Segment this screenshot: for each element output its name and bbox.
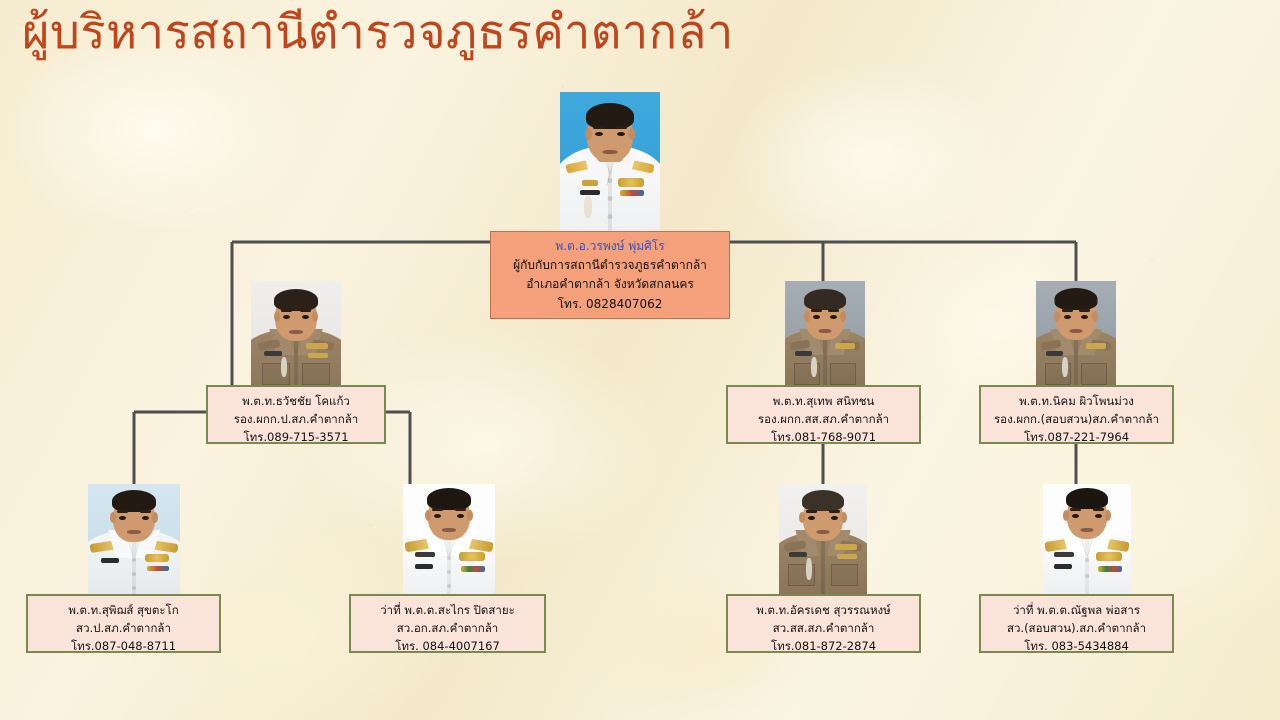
node-level3-1[interactable]: ว่าที่ พ.ต.ต.สะไกร ปิดสายะ สว.อก.สภ.คำตา… [349, 594, 546, 653]
node-name: พ.ต.ท.นิคม ผิวโพนม่วง [985, 393, 1168, 411]
node-name: พ.ต.ท.อัครเดช สุวรรณหงษ์ [732, 602, 915, 620]
photo-level3-1 [403, 484, 495, 594]
page-title: ผู้บริหารสถานีตำรวจภูธรคำตากล้า [22, 6, 734, 60]
photo-level3-3 [1043, 484, 1131, 594]
node-phone: โทร.081-768-9071 [732, 429, 915, 447]
node-level3-0[interactable]: พ.ต.ท.สุพิฌส์ สุขตะโก สว.ป.สภ.คำตากล้า โ… [26, 594, 221, 653]
node-role: สว.อก.สภ.คำตากล้า [355, 620, 540, 638]
photo-root [560, 92, 660, 232]
root-node[interactable]: พ.ต.อ.วรพงษ์ พุ่มศิโร ผู้กับกับการสถานีต… [490, 231, 730, 319]
node-level3-2[interactable]: พ.ต.ท.อัครเดช สุวรรณหงษ์ สว.สส.สภ.คำตากล… [726, 594, 921, 653]
node-role: รอง.ผกก.ป.สภ.คำตากล้า [212, 411, 380, 429]
node-role: รอง.ผกก.(สอบสวน)สภ.คำตากล้า [985, 411, 1168, 429]
photo-level3-2 [779, 484, 867, 594]
node-role: สว.สส.สภ.คำตากล้า [732, 620, 915, 638]
node-role: รอง.ผกก.สส.สภ.คำตากล้า [732, 411, 915, 429]
node-role: สว.ป.สภ.คำตากล้า [32, 620, 215, 638]
node-phone: โทร.089-715-3571 [212, 429, 380, 447]
node-level2-2[interactable]: พ.ต.ท.นิคม ผิวโพนม่วง รอง.ผกก.(สอบสวน)สภ… [979, 385, 1174, 444]
node-level2-0[interactable]: พ.ต.ท.ธวัชชัย โคแก้ว รอง.ผกก.ป.สภ.คำตากล… [206, 385, 386, 444]
root-phone: โทร. 0828407062 [491, 295, 729, 314]
root-line2: ผู้กับกับการสถานีตำรวจภูธรคำตากล้า [491, 256, 729, 275]
photo-level2-2 [1036, 281, 1116, 391]
node-name: พ.ต.ท.สุเทพ สนิทชน [732, 393, 915, 411]
node-level3-3[interactable]: ว่าที่ พ.ต.ต.ณัฐพล พ่อสาร สว.(สอบสวน).สภ… [979, 594, 1174, 653]
photo-level3-0 [88, 484, 180, 594]
node-phone: โทร.087-048-8711 [32, 638, 215, 656]
node-phone: โทร.081-872-2874 [732, 638, 915, 656]
root-line3: อำเภอคำตากล้า จังหวัดสกลนคร [491, 275, 729, 294]
root-name: พ.ต.อ.วรพงษ์ พุ่มศิโร [491, 237, 729, 256]
node-name: พ.ต.ท.ธวัชชัย โคแก้ว [212, 393, 380, 411]
node-phone: โทร. 083-5434884 [985, 638, 1168, 656]
node-name: ว่าที่ พ.ต.ต.ณัฐพล พ่อสาร [985, 602, 1168, 620]
photo-level2-0 [251, 281, 341, 391]
node-name: ว่าที่ พ.ต.ต.สะไกร ปิดสายะ [355, 602, 540, 620]
node-level2-1[interactable]: พ.ต.ท.สุเทพ สนิทชน รอง.ผกก.สส.สภ.คำตากล้… [726, 385, 921, 444]
node-phone: โทร.087-221-7964 [985, 429, 1168, 447]
node-phone: โทร. 084-4007167 [355, 638, 540, 656]
node-role: สว.(สอบสวน).สภ.คำตากล้า [985, 620, 1168, 638]
photo-level2-1 [785, 281, 865, 391]
node-name: พ.ต.ท.สุพิฌส์ สุขตะโก [32, 602, 215, 620]
